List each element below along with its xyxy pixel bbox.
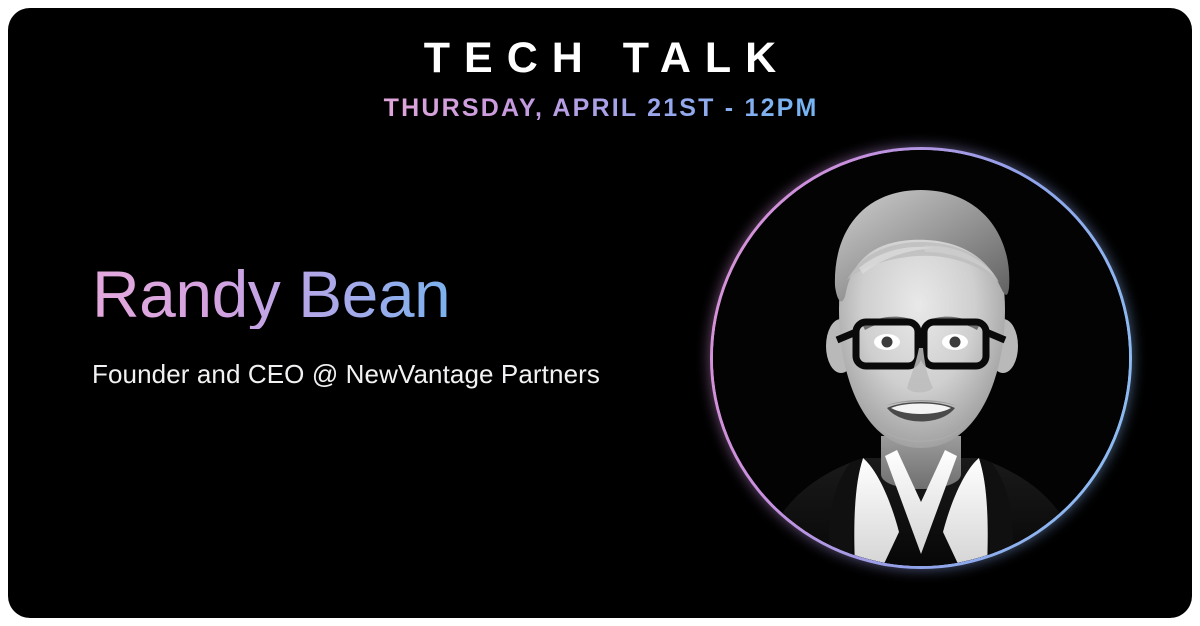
speaker-role: Founder and CEO @ NewVantage Partners	[92, 329, 692, 390]
portrait-ring-inner	[713, 150, 1129, 566]
event-datetime: THURSDAY, APRIL 21ST - 12PM	[381, 81, 818, 123]
speaker-info: Randy Bean Founder and CEO @ NewVantage …	[92, 260, 692, 390]
page-title: TECH TALK	[8, 8, 1192, 81]
speaker-name: Randy Bean	[92, 260, 450, 329]
portrait-gradient-ring	[710, 147, 1132, 569]
event-datetime-row: THURSDAY, APRIL 21ST - 12PM	[8, 81, 1192, 123]
event-header: TECH TALK THURSDAY, APRIL 21ST - 12PM	[8, 8, 1192, 123]
speaker-name-row: Randy Bean	[92, 260, 692, 329]
promo-card-stage: TECH TALK THURSDAY, APRIL 21ST - 12PM Ra…	[0, 0, 1200, 626]
speaker-portrait-container	[710, 147, 1132, 569]
event-promo-card: TECH TALK THURSDAY, APRIL 21ST - 12PM Ra…	[8, 8, 1192, 618]
avatar	[713, 150, 1129, 566]
